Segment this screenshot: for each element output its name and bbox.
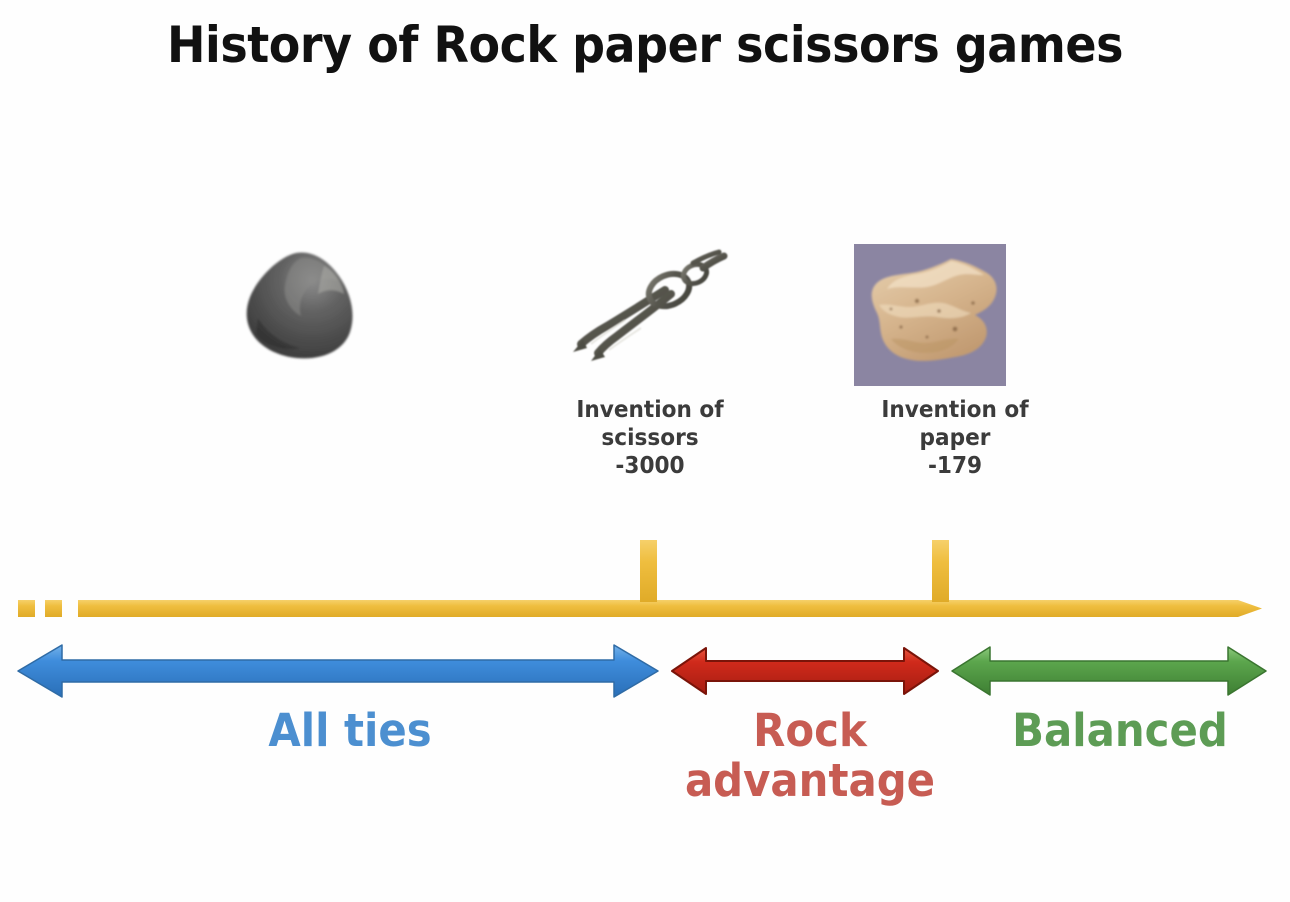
timeline-end-arrow (1238, 600, 1262, 617)
event-paper-line2: paper (819, 424, 1092, 452)
period-balanced-label: Balanced (967, 706, 1274, 756)
timeline-axis (0, 520, 1290, 630)
event-scissors-line2: scissors (528, 424, 772, 452)
period-arrow-balanced (952, 647, 1266, 695)
period-arrows (0, 640, 1290, 702)
period-arrow-rock-advantage (672, 648, 938, 694)
event-label-scissors: Invention of scissors -3000 (528, 396, 772, 480)
period-rock-advantage-label-line1: Rock (657, 706, 964, 756)
timeline-tick-scissors (640, 540, 657, 602)
event-paper-year: -179 (819, 452, 1092, 480)
event-paper-line1: Invention of (819, 396, 1092, 424)
period-caption-balanced: Balanced (967, 706, 1274, 756)
timeline-tick-paper (932, 540, 949, 602)
rock-image (238, 248, 363, 366)
paper-image (855, 245, 1005, 385)
period-all-ties-label: All ties (127, 706, 573, 756)
timeline-bar (78, 600, 1238, 617)
timeline-dash-1 (18, 600, 35, 617)
timeline-dash-2 (45, 600, 62, 617)
period-rock-advantage-label-line2: advantage (657, 756, 964, 806)
period-caption-all-ties: All ties (127, 706, 573, 756)
period-arrow-all-ties (18, 645, 658, 697)
period-caption-rock-advantage: Rock advantage (657, 706, 964, 807)
event-scissors-year: -3000 (528, 452, 772, 480)
event-scissors-line1: Invention of (528, 396, 772, 424)
timeline-infographic: History of Rock paper scissors games (0, 0, 1290, 902)
scissors-image (565, 248, 735, 366)
page-title: History of Rock paper scissors games (52, 16, 1239, 74)
event-label-paper: Invention of paper -179 (819, 396, 1092, 480)
